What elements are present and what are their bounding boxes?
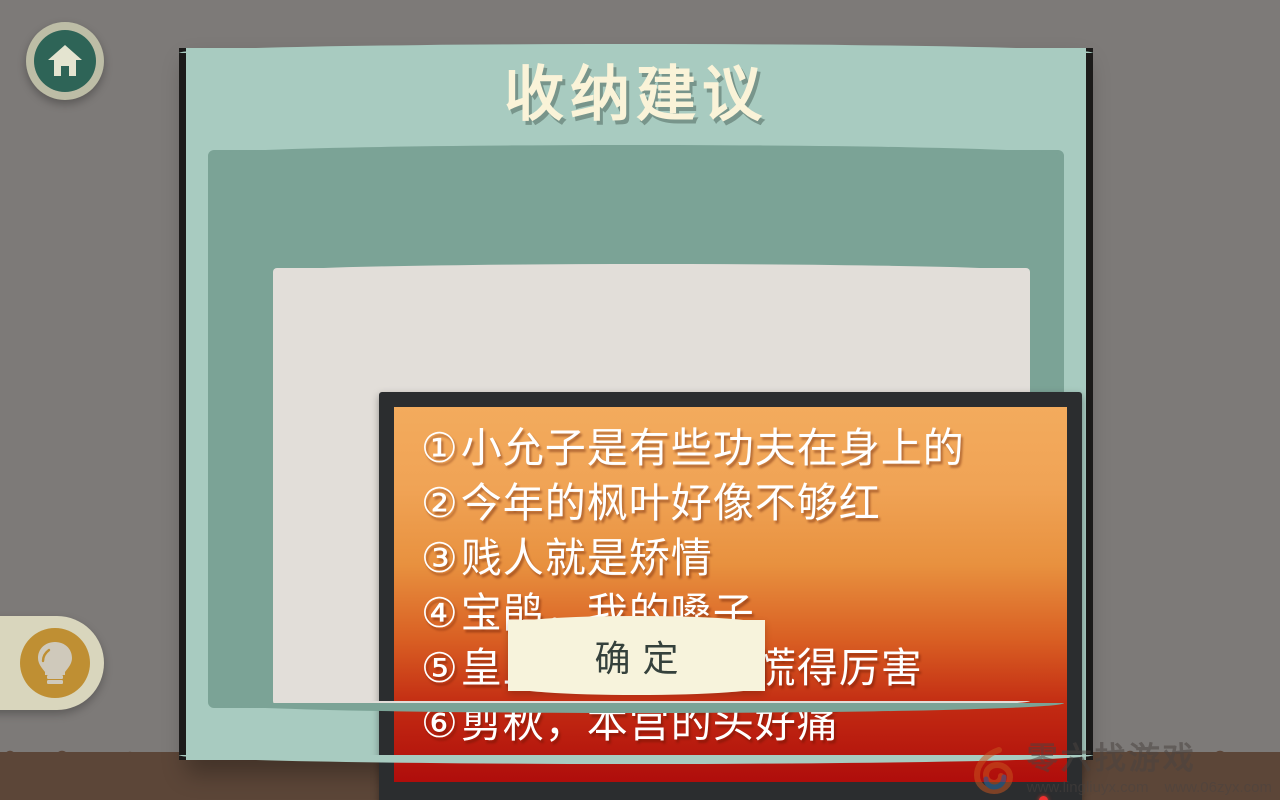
list-item-label: 今年的枫叶好像不够红 <box>461 476 881 531</box>
list-item-number: ③ <box>421 531 459 586</box>
tv-screen: ① 小允子是有些功夫在身上的 ② 今年的枫叶好像不够红 ③ 贱人就是矫情 <box>394 407 1067 782</box>
lightbulb-icon <box>35 640 75 686</box>
power-led-indicator <box>1039 796 1048 800</box>
suggestion-list: ① 小允子是有些功夫在身上的 ② 今年的枫叶好像不够红 ③ 贱人就是矫情 <box>421 421 1051 751</box>
dialog-panel: 收纳建议 ① 小允子是有些功夫在身上的 ② 今年的枫叶好像 <box>186 48 1086 760</box>
list-item-label: 小允子是有些功夫在身上的 <box>461 421 965 476</box>
hint-button-inner <box>20 628 90 698</box>
list-item-number: ⑤ <box>421 641 459 696</box>
list-item: ① 小允子是有些功夫在身上的 <box>421 421 1051 476</box>
tv-bezel: ① 小允子是有些功夫在身上的 ② 今年的枫叶好像不够红 ③ 贱人就是矫情 <box>379 392 1082 800</box>
list-item-label: 剪秋，本宫的头好痛 <box>461 696 839 751</box>
list-item-number: ② <box>421 476 459 531</box>
confirm-button[interactable]: 确定 <box>508 620 765 691</box>
home-icon <box>45 43 85 79</box>
list-item-number: ① <box>421 421 459 476</box>
page-title: 收纳建议 <box>186 64 1086 127</box>
home-button-inner <box>34 30 96 92</box>
list-item-number: ⑥ <box>421 696 459 751</box>
list-item: ⑥ 剪秋，本宫的头好痛 <box>421 696 1051 751</box>
list-item-number: ④ <box>421 586 459 641</box>
list-item: ② 今年的枫叶好像不够红 <box>421 476 1051 531</box>
hint-button[interactable] <box>0 616 104 710</box>
list-item-label: 贱人就是矫情 <box>461 531 713 586</box>
list-item: ③ 贱人就是矫情 <box>421 531 1051 586</box>
home-button[interactable] <box>26 22 104 100</box>
confirm-button-label: 确定 <box>582 630 690 682</box>
game-screen: 收纳建议 ① 小允子是有些功夫在身上的 ② 今年的枫叶好像 <box>0 0 1280 800</box>
